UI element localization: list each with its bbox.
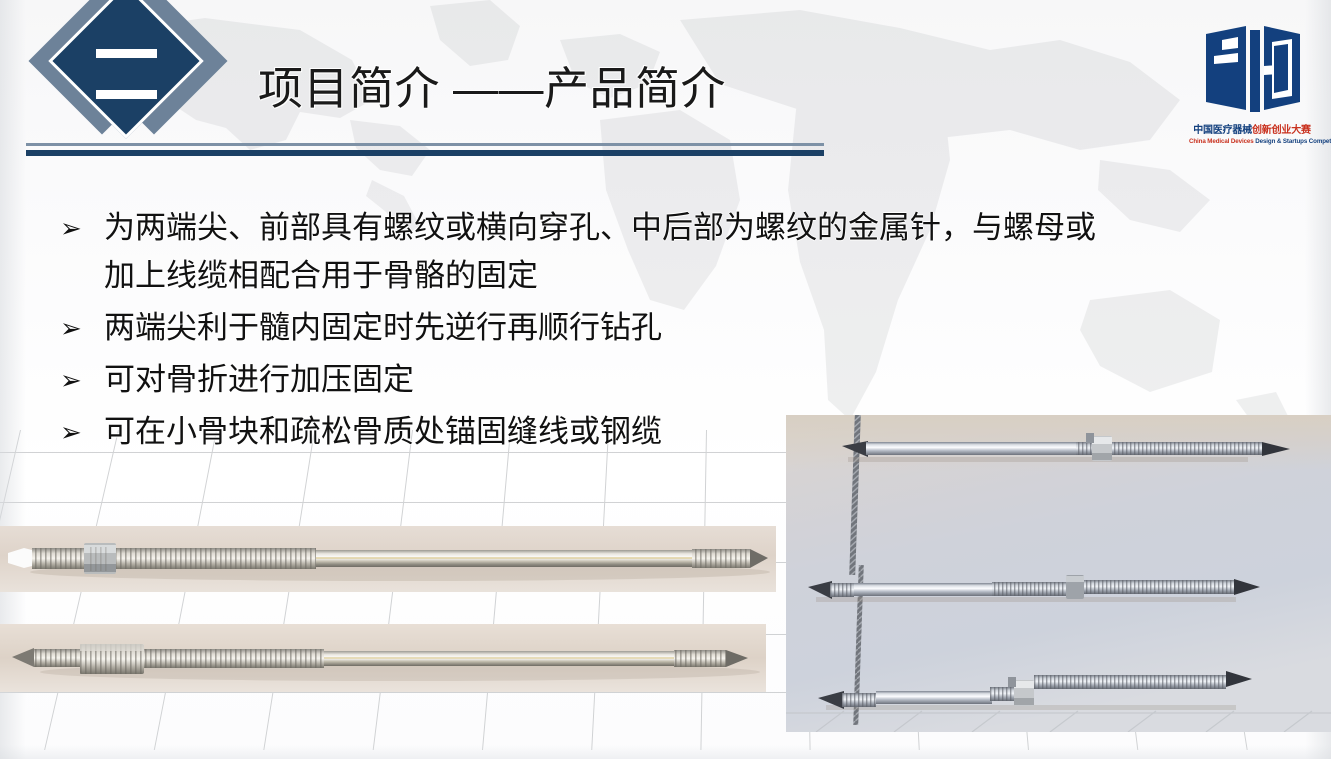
arrow-bullet-icon: ➢ bbox=[60, 408, 104, 456]
bullet-line-2: 加上线缆相配合用于骨骼的固定 bbox=[104, 252, 1220, 300]
competition-logo: 中国医疗器械创新创业大赛 China Medical Devices Desig… bbox=[1189, 22, 1315, 146]
arrow-bullet-icon: ➢ bbox=[60, 204, 104, 252]
slide-header: 项目简介 ——产品简介 bbox=[0, 0, 1331, 175]
diamond-emblem-icon bbox=[40, 4, 216, 156]
arrow-bullet-icon: ➢ bbox=[60, 304, 104, 352]
open-book-logo-icon bbox=[1200, 22, 1304, 120]
three-pins-with-cable-photo bbox=[786, 415, 1331, 732]
bullet-text: 两端尖利于髓内固定时先逆行再顺行钻孔 bbox=[104, 304, 1220, 352]
list-item: ➢ 可对骨折进行加压固定 bbox=[60, 356, 1220, 404]
list-item: ➢ 为两端尖、前部具有螺纹或横向穿孔、中后部为螺纹的金属针，与螺母或 加上线缆相… bbox=[60, 204, 1220, 300]
title-rule-thin bbox=[26, 143, 824, 146]
competition-logo-en-text: China Medical Devices Design & Startups … bbox=[1189, 137, 1315, 146]
bullet-text: 可对骨折进行加压固定 bbox=[104, 356, 1220, 404]
competition-logo-cn-text: 中国医疗器械创新创业大赛 bbox=[1189, 125, 1315, 137]
title-rule-thick bbox=[26, 150, 824, 156]
threaded-pin-with-nut-photo bbox=[0, 526, 776, 592]
page-title: 项目简介 ——产品简介 bbox=[258, 66, 726, 111]
list-item: ➢ 两端尖利于髓内固定时先逆行再顺行钻孔 bbox=[60, 304, 1220, 352]
bullet-line-1: 为两端尖、前部具有螺纹或横向穿孔、中后部为螺纹的金属针，与螺母或 bbox=[104, 210, 1096, 245]
bullet-text: 为两端尖、前部具有螺纹或横向穿孔、中后部为螺纹的金属针，与螺母或 加上线缆相配合… bbox=[104, 204, 1220, 300]
slide-canvas: 项目简介 ——产品简介 bbox=[0, 0, 1331, 759]
arrow-bullet-icon: ➢ bbox=[60, 356, 104, 404]
double-pointed-threaded-pin-photo bbox=[0, 624, 766, 692]
